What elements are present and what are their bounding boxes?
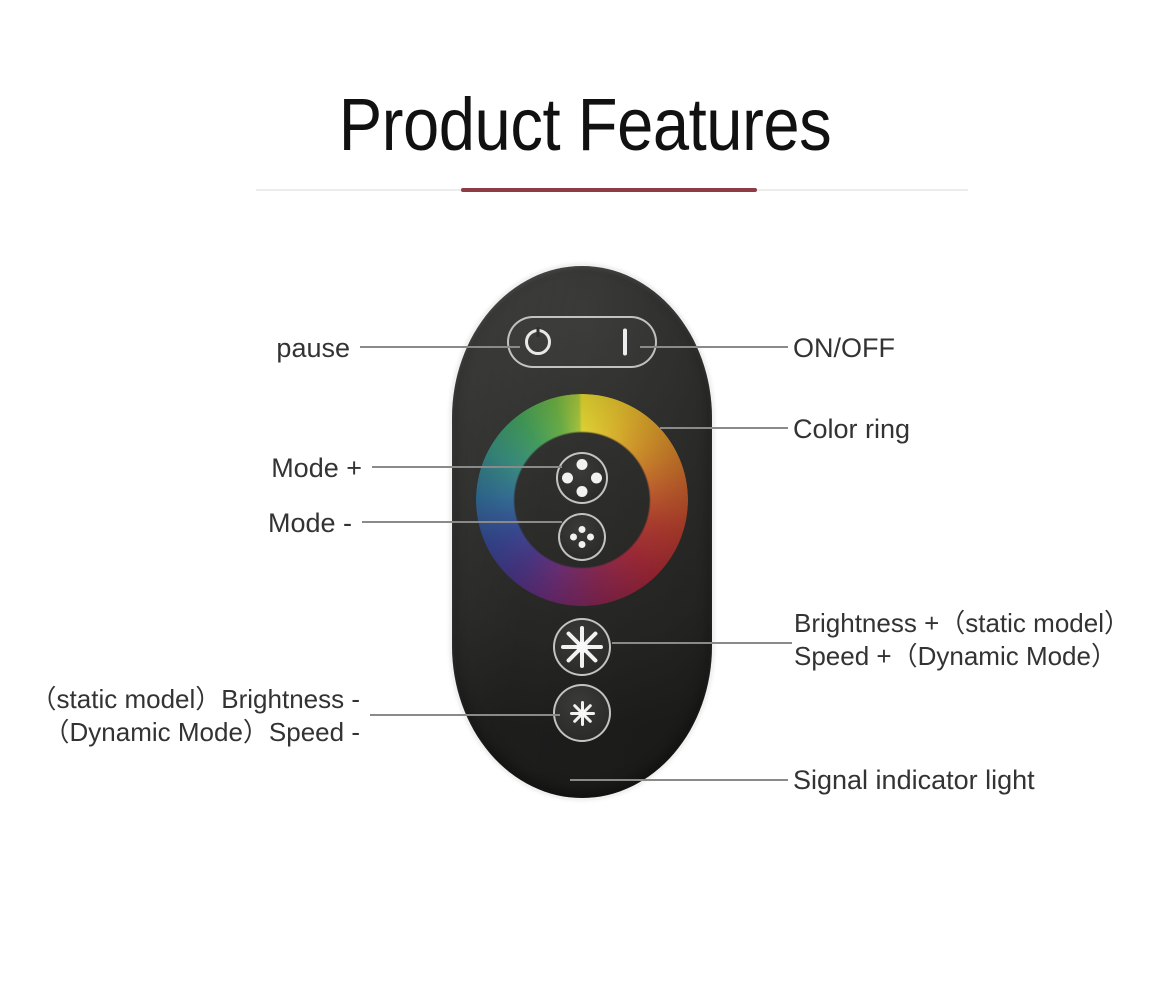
power-bar-icon[interactable] [623,329,627,356]
brightness-plus-button[interactable] [553,618,611,676]
callout-pause: pause [0,331,350,366]
callout-brightness-plus-line2: Speed +（Dynamic Mode） [794,640,1130,673]
four-dots-small-icon [560,515,604,559]
brightness-minus-button[interactable] [553,684,611,742]
leader-line-onoff [640,346,788,348]
leader-line-brightness-plus [612,642,792,644]
page-title: Product Features [70,88,1100,162]
callout-color-ring: Color ring [793,412,910,447]
callout-mode-plus: Mode + [0,451,362,486]
callout-mode-minus-label: Mode - [0,506,352,541]
pause-icon[interactable] [525,329,551,355]
mode-plus-button[interactable] [556,452,608,504]
leader-line-signal-indicator [570,779,788,781]
leader-line-brightness-minus [370,714,560,716]
mode-minus-button[interactable] [558,513,606,561]
divider-accent-line [461,188,757,192]
callout-signal-indicator-label: Signal indicator light [793,763,1035,798]
callout-onoff-label: ON/OFF [793,331,895,366]
callout-pause-label: pause [0,331,350,366]
callout-brightness-minus: （static model）Brightness - （Dynamic Mode… [0,683,360,750]
callout-onoff: ON/OFF [793,331,895,366]
leader-line-mode-plus [372,466,562,468]
callout-signal-indicator: Signal indicator light [793,763,1035,798]
leader-line-pause [360,346,520,348]
callout-color-ring-label: Color ring [793,412,910,447]
callout-brightness-minus-line1: （static model）Brightness - [0,683,360,716]
power-onoff-button[interactable] [507,316,657,368]
asterisk-large-icon [555,620,609,674]
four-dots-large-icon [558,454,606,502]
callout-brightness-minus-line2: （Dynamic Mode）Speed - [0,716,360,749]
callout-brightness-plus-line1: Brightness +（static model） [794,607,1130,640]
product-features-page: Product Features [0,0,1170,996]
leader-line-color-ring [660,427,788,429]
title-divider [256,188,968,192]
leader-line-mode-minus [362,521,562,523]
callout-brightness-plus: Brightness +（static model） Speed +（Dynam… [794,607,1130,674]
callout-mode-plus-label: Mode + [0,451,362,486]
asterisk-small-icon [555,686,609,740]
callout-mode-minus: Mode - [0,506,352,541]
